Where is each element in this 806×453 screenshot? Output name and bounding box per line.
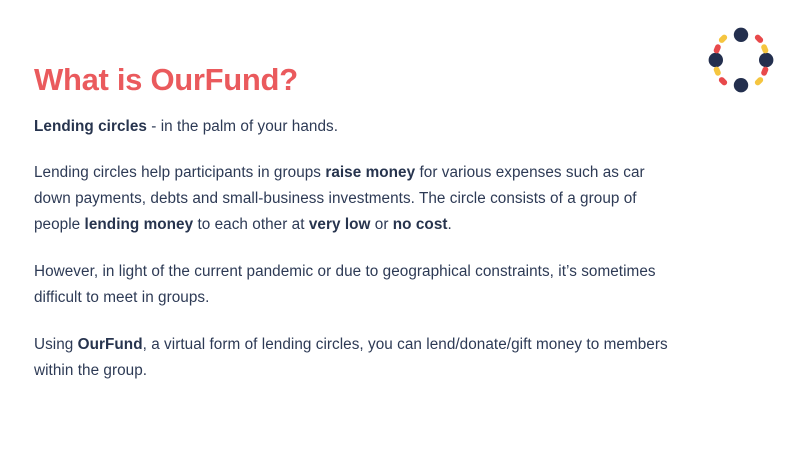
text-emphasis: no cost	[393, 216, 448, 233]
paragraph-4: Using OurFund, a virtual form of lending…	[34, 332, 674, 384]
text-emphasis: lending money	[85, 216, 194, 233]
paragraph-3: However, in light of the current pandemi…	[34, 259, 674, 311]
text-emphasis: very low	[309, 216, 371, 233]
paragraph-2: Lending circles help participants in gro…	[34, 160, 674, 238]
slide-root: What is OurFund? Lending circles - in th…	[0, 0, 806, 453]
ourfund-logo	[705, 24, 777, 96]
text-run: Using	[34, 336, 78, 353]
page-title: What is OurFund?	[34, 62, 298, 98]
text-run: to each other at	[193, 216, 309, 233]
text-emphasis: OurFund	[78, 336, 143, 353]
logo-navy-dots	[709, 28, 774, 93]
text-run: .	[448, 216, 452, 233]
text-emphasis: raise money	[325, 164, 415, 181]
text-run: - in the palm of your hands.	[147, 118, 338, 135]
ourfund-logo-icon	[705, 24, 777, 96]
paragraph-1: Lending circles - in the palm of your ha…	[34, 114, 674, 140]
text-run: However, in light of the current pandemi…	[34, 263, 656, 306]
text-run: or	[370, 216, 392, 233]
text-run: Lending circles help participants in gro…	[34, 164, 325, 181]
text-emphasis: Lending circles	[34, 118, 147, 135]
slide-body: Lending circles - in the palm of your ha…	[34, 114, 674, 384]
